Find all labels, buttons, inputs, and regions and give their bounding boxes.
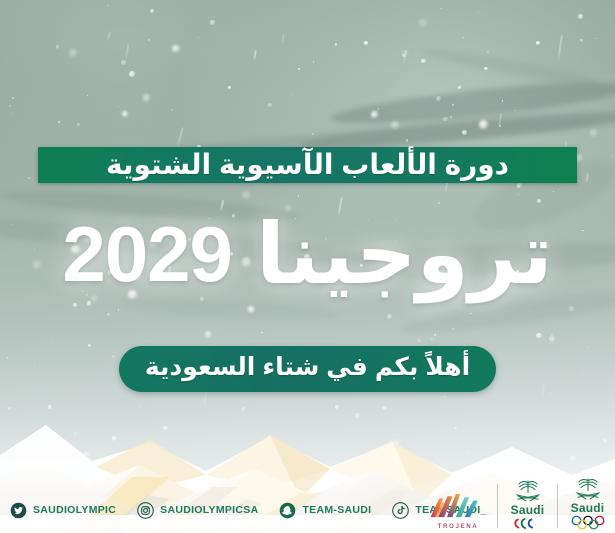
event-banner-text: دورة الألعاب الآسيوية الشتوية [106, 151, 509, 179]
hero-title-year: 2029 [62, 215, 232, 293]
tiktok-icon [392, 502, 409, 519]
instagram-icon [137, 502, 154, 519]
logo-divider [497, 484, 498, 528]
olympic-rings-icon [569, 515, 607, 530]
subtitle-text: أهلاً بكم في شتاء السعودية [145, 352, 470, 383]
paralympic-agitos-icon [511, 517, 545, 530]
saudi-emblem-icon [507, 477, 549, 505]
social-link-snapchat[interactable]: TEAM-SAUDI [279, 502, 371, 519]
footer-bar: SAUDIOLYMPIC SAUDIOLYMPICSA TEAM-SAUDI [0, 487, 615, 533]
event-banner: دورة الألعاب الآسيوية الشتوية [38, 147, 577, 183]
saudi-emblem-icon [567, 475, 609, 503]
subtitle-pill: أهلاً بكم في شتاء السعودية [119, 346, 496, 392]
poster: دورة الألعاب الآسيوية الشتوية تروجينا 20… [0, 0, 615, 533]
social-links: SAUDIOLYMPIC SAUDIOLYMPICSA TEAM-SAUDI [0, 502, 487, 519]
snapchat-icon [279, 502, 296, 519]
hero-title-word: تروجينا [256, 212, 553, 296]
logo-divider [557, 484, 558, 528]
trojena-mountain-icon [425, 488, 491, 522]
saudi-olympic-label: Saudi [564, 502, 611, 514]
trojena-logo-label: TROJENA [425, 523, 491, 530]
subtitle-container: أهلاً بكم في شتاء السعودية [0, 346, 615, 392]
hero-title: تروجينا 2029 [0, 198, 615, 310]
social-link-instagram[interactable]: SAUDIOLYMPICSA [137, 502, 258, 519]
saudi-olympic-logo: Saudi [564, 475, 611, 530]
social-handle: TEAM-SAUDI [302, 504, 371, 516]
trojena-logo: TROJENA [425, 488, 491, 530]
social-handle: SAUDIOLYMPICSA [160, 504, 258, 516]
social-link-twitter[interactable]: SAUDIOLYMPIC [10, 502, 116, 519]
saudi-paralympic-label: Saudi [504, 504, 551, 516]
saudi-paralympic-logo: Saudi [504, 477, 551, 530]
social-handle: SAUDIOLYMPIC [33, 504, 116, 516]
partner-logos: TROJENA Saudi [425, 475, 611, 530]
twitter-icon [10, 502, 27, 519]
